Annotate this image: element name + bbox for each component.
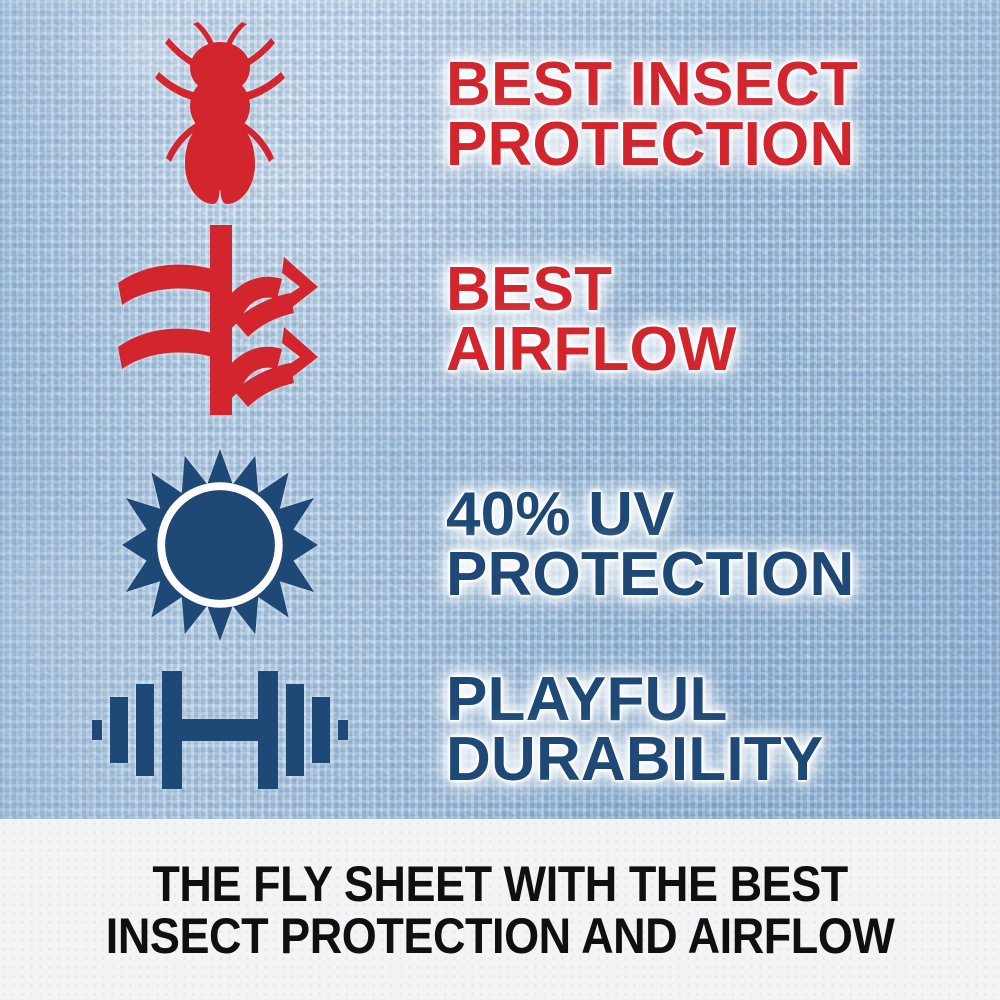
- feature-row-uv-protection: 40% UV PROTECTION: [0, 440, 1000, 650]
- bottom-caption-bar: THE FLY SHEET WITH THE BEST INSECT PROTE…: [0, 819, 1000, 1000]
- feature-label-insect-protection: BEST INSECT PROTECTION: [446, 55, 1000, 174]
- sun-icon: [122, 447, 318, 643]
- feature-row-durability: PLAYFUL DURABILITY: [0, 650, 1000, 810]
- airflow-arrows-icon: [112, 225, 328, 415]
- feature-text-cell: BEST INSECT PROTECTION: [440, 55, 1000, 174]
- feature-text-cell: BEST AIRFLOW: [440, 260, 1000, 379]
- feature-icon-cell: [0, 667, 440, 793]
- feature-label-line-2: DURABILITY: [446, 730, 1000, 790]
- product-feature-infographic: BEST INSECT PROTECTION: [0, 0, 1000, 1000]
- feature-text-cell: 40% UV PROTECTION: [440, 485, 1000, 604]
- feature-label-durability: PLAYFUL DURABILITY: [446, 670, 1000, 789]
- feature-icon-cell: [0, 225, 440, 415]
- feature-label-line-2: PROTECTION: [446, 545, 1000, 605]
- feature-row-airflow: BEST AIRFLOW: [0, 222, 1000, 417]
- feature-text-cell: PLAYFUL DURABILITY: [440, 670, 1000, 789]
- feature-label-line-2: PROTECTION: [446, 115, 1000, 175]
- fly-icon: [145, 22, 295, 208]
- dumbbell-icon: [92, 667, 348, 793]
- feature-icon-cell: [0, 447, 440, 643]
- feature-label-line-1: BEST: [446, 260, 1000, 320]
- caption-line-1: THE FLY SHEET WITH THE BEST: [106, 858, 895, 910]
- feature-icon-cell: [0, 22, 440, 208]
- feature-label-airflow: BEST AIRFLOW: [446, 260, 1000, 379]
- feature-row-insect-protection: BEST INSECT PROTECTION: [0, 20, 1000, 210]
- caption-headline: THE FLY SHEET WITH THE BEST INSECT PROTE…: [106, 858, 895, 962]
- feature-label-line-2: AIRFLOW: [446, 320, 1000, 380]
- feature-label-line-1: 40% UV: [446, 485, 1000, 545]
- caption-line-2: INSECT PROTECTION AND AIRFLOW: [106, 910, 895, 962]
- feature-label-line-1: BEST INSECT: [446, 55, 1000, 115]
- feature-label-uv-protection: 40% UV PROTECTION: [446, 485, 1000, 604]
- feature-label-line-1: PLAYFUL: [446, 670, 1000, 730]
